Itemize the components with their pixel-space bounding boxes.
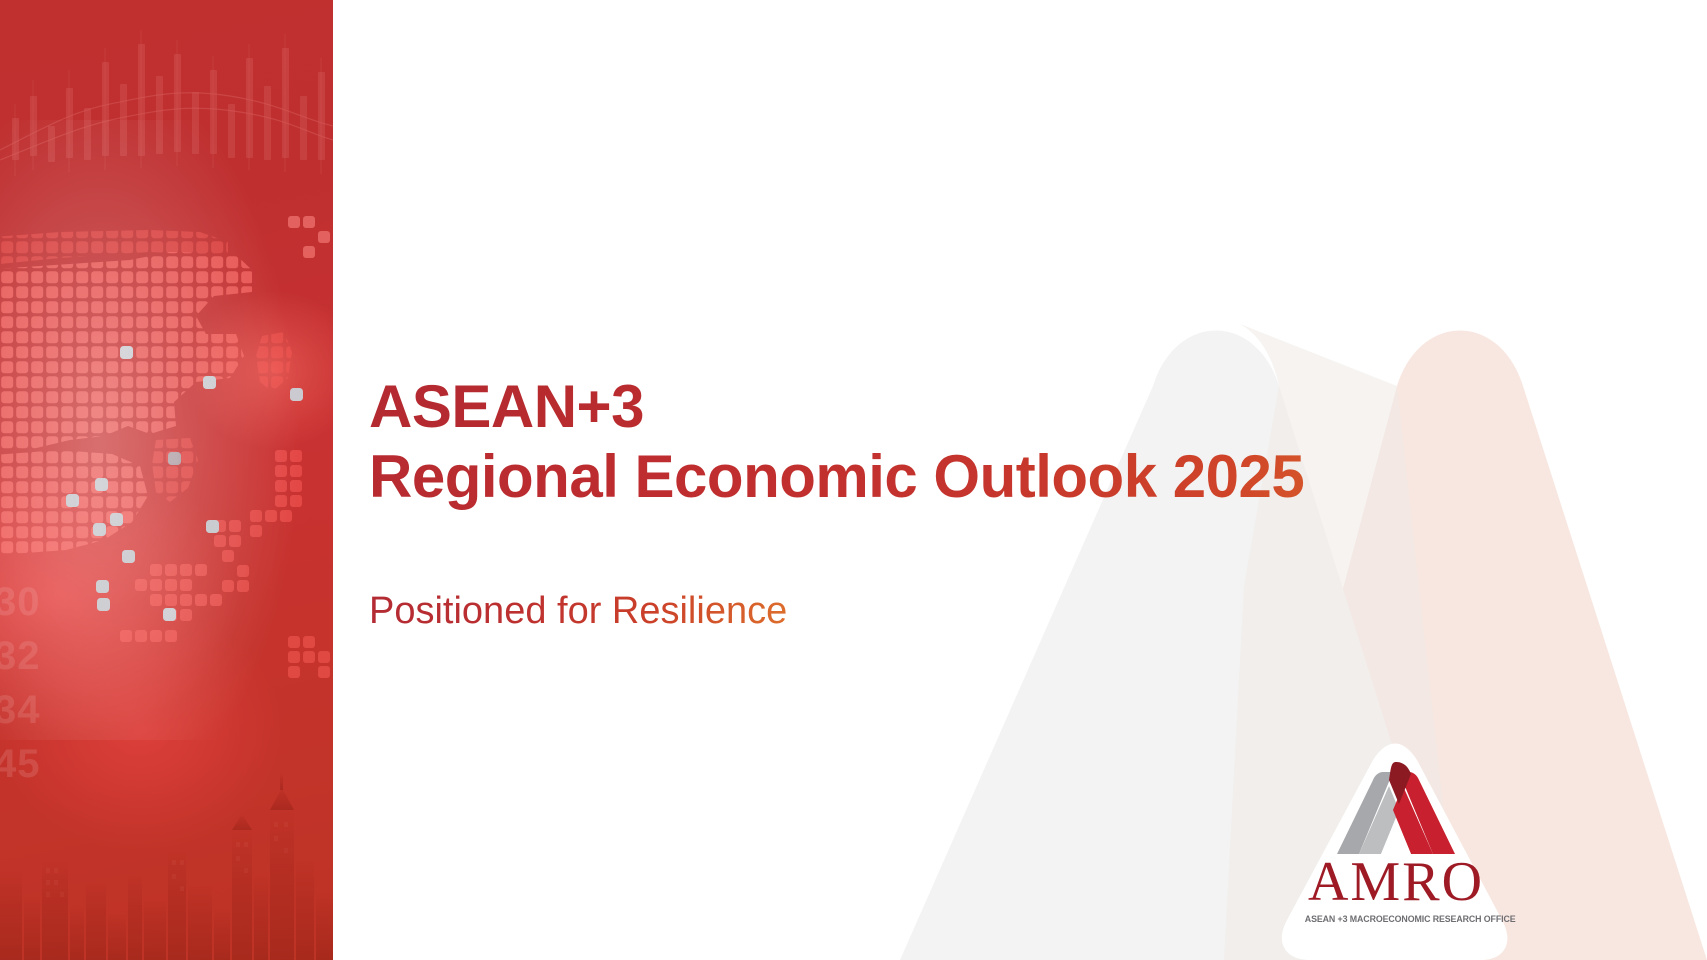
page-subtitle: Positioned for Resilience <box>369 588 787 636</box>
city-skyline-silhouette <box>0 710 333 960</box>
amro-a-mark-icon <box>1337 762 1455 854</box>
title-slide: 30 32 34 45 <box>0 0 1707 960</box>
page-title-line-1: ASEAN+3 <box>369 372 1469 442</box>
left-decorative-panel: 30 32 34 45 <box>0 0 333 960</box>
amro-tagline: ASEAN +3 MACROECONOMIC RESEARCH OFFICE <box>1305 914 1487 924</box>
amro-logo: AMRO ASEAN +3 MACROECONOMIC RESEARCH OFF… <box>1301 762 1491 947</box>
title-block: ASEAN+3 Regional Economic Outlook 2025 <box>369 372 1469 511</box>
page-title-line-2: Regional Economic Outlook 2025 <box>369 442 1469 512</box>
numeric-watermark-1: 30 <box>0 575 114 629</box>
numeric-watermark-3: 34 <box>0 683 114 737</box>
highlight-dots <box>120 346 303 621</box>
candlestick-chart-texture <box>0 0 333 330</box>
amro-wordmark: AMRO <box>1301 854 1491 910</box>
numeric-watermark-4: 45 <box>0 737 114 791</box>
dot-matrix-asia-map <box>0 120 333 740</box>
numeric-watermark-2: 32 <box>0 629 114 683</box>
numeric-watermark: 30 32 34 45 <box>0 575 114 825</box>
panel-glow <box>183 290 333 450</box>
